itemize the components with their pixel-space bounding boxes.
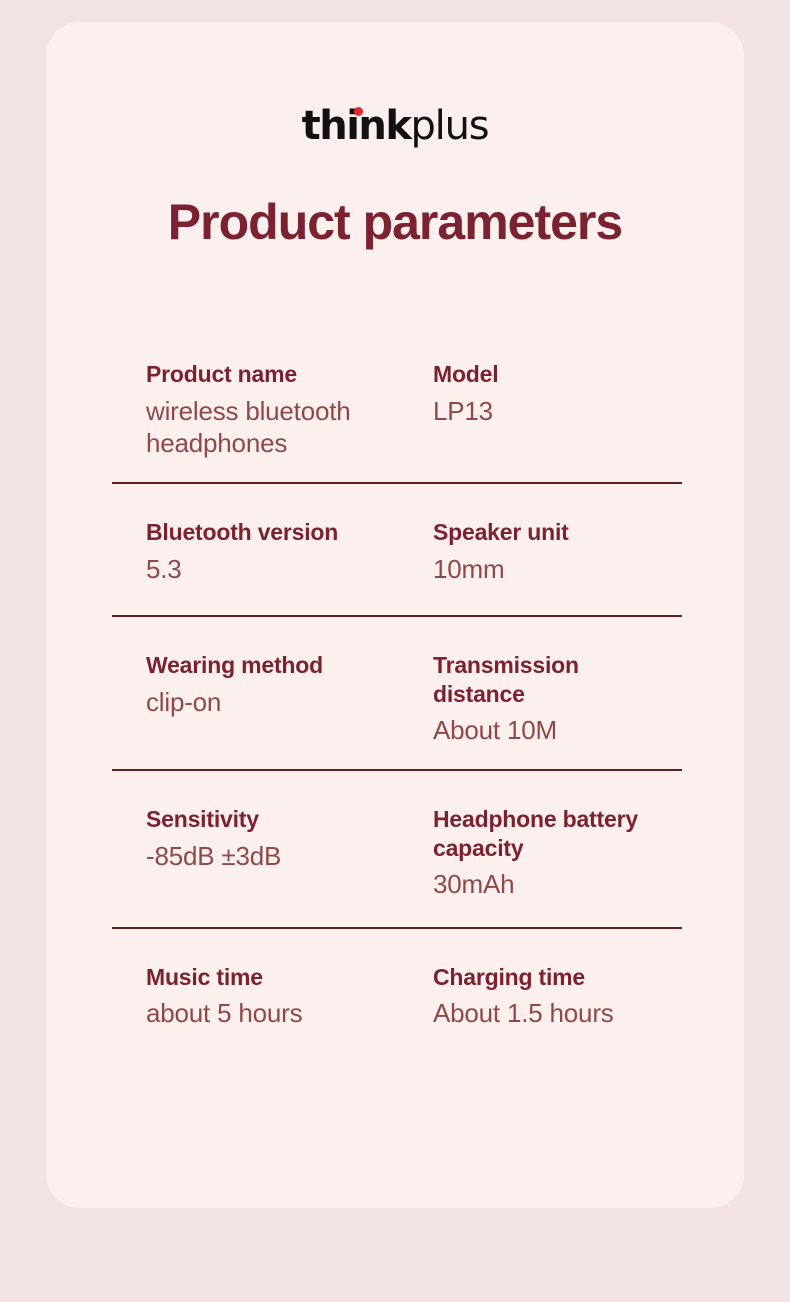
table-row: Product name wireless bluetooth headphon… xyxy=(112,324,682,484)
spec-cell-product-name: Product name wireless bluetooth headphon… xyxy=(112,360,397,460)
spec-cell-speaker-unit: Speaker unit 10mm xyxy=(397,518,682,585)
spec-label: Bluetooth version xyxy=(146,518,391,547)
spec-cell-music-time: Music time about 5 hours xyxy=(112,963,397,1030)
spec-label: Wearing method xyxy=(146,651,391,680)
table-row: Bluetooth version 5.3 Speaker unit 10mm xyxy=(112,484,682,617)
spec-label: Transmission distance xyxy=(433,651,676,708)
brand-logo: thinkplus xyxy=(46,106,744,158)
thinkplus-logo: thinkplus xyxy=(302,106,489,146)
spec-value: clip-on xyxy=(146,686,391,719)
table-row: Sensitivity -85dB ±3dB Headphone battery… xyxy=(112,771,682,929)
spec-label: Model xyxy=(433,360,676,389)
spec-value: about 5 hours xyxy=(146,997,391,1030)
spec-value: LP13 xyxy=(433,395,676,428)
spec-label: Product name xyxy=(146,360,391,389)
table-row: Wearing method clip-on Transmission dist… xyxy=(112,617,682,771)
spec-cell-transmission-distance: Transmission distance About 10M xyxy=(397,651,682,747)
spec-value: 30mAh xyxy=(433,868,676,901)
spec-value: About 10M xyxy=(433,714,676,747)
logo-red-dot-icon xyxy=(354,107,363,116)
spec-label: Charging time xyxy=(433,963,676,992)
spec-cell-wearing-method: Wearing method clip-on xyxy=(112,651,397,747)
spec-value: 10mm xyxy=(433,553,676,586)
spec-cell-charging-time: Charging time About 1.5 hours xyxy=(397,963,682,1030)
spec-value: About 1.5 hours xyxy=(433,997,676,1030)
spec-cell-headphone-battery-capacity: Headphone battery capacity 30mAh xyxy=(397,805,682,901)
spec-label: Headphone battery capacity xyxy=(433,805,676,862)
page-title: Product parameters xyxy=(46,194,744,250)
spec-label: Sensitivity xyxy=(146,805,391,834)
logo-plus-text: plus xyxy=(410,103,488,149)
spec-cell-model: Model LP13 xyxy=(397,360,682,460)
spec-label: Music time xyxy=(146,963,391,992)
spec-value: wireless bluetooth headphones xyxy=(146,395,391,461)
spec-value: 5.3 xyxy=(146,553,391,586)
specification-table: Product name wireless bluetooth headphon… xyxy=(112,324,682,1040)
spec-cell-sensitivity: Sensitivity -85dB ±3dB xyxy=(112,805,397,901)
spec-cell-bluetooth-version: Bluetooth version 5.3 xyxy=(112,518,397,585)
spec-label: Speaker unit xyxy=(433,518,676,547)
table-row: Music time about 5 hours Charging time A… xyxy=(112,929,682,1040)
spec-value: -85dB ±3dB xyxy=(146,840,391,873)
product-parameters-card: thinkplus Product parameters Product nam… xyxy=(46,22,744,1208)
